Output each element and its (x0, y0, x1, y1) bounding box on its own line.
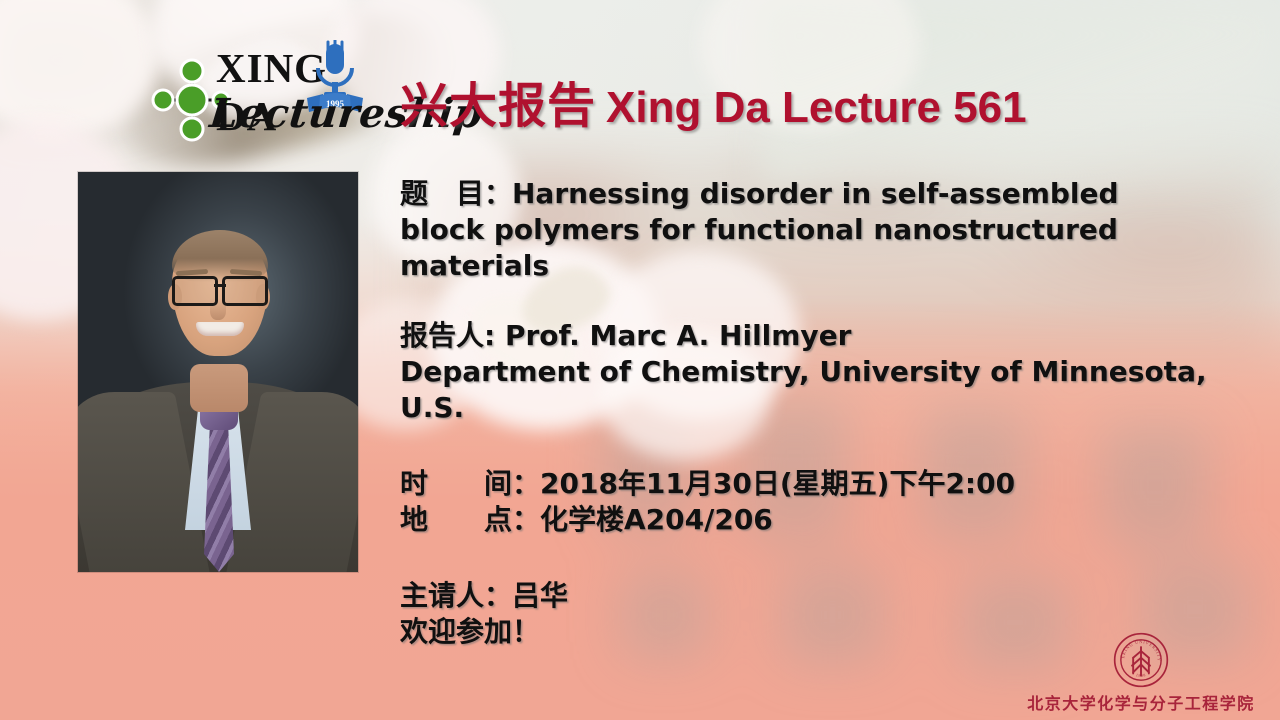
speaker-photo (78, 172, 358, 572)
peking-university-seal-icon: PEKING UNIVERSITY 1898 (1113, 632, 1169, 688)
speaker-line-1: 报告人: Prof. Marc A. Hillmyer (400, 318, 1250, 354)
spacer (400, 426, 1250, 466)
photo-neck (190, 364, 248, 412)
speaker-line-2: Department of Chemistry, University of M… (400, 354, 1250, 390)
photo-lens-right (222, 276, 268, 306)
logistics-block: 时 间：2018年11月30日(星期五)下午2:00 地 点：化学楼A204/2… (400, 466, 1250, 538)
time-line: 时 间：2018年11月30日(星期五)下午2:00 (400, 466, 1250, 502)
poster-title-chinese: 兴大报告 (400, 78, 596, 134)
lecture-poster: XINGDA 1995 Lectureship (0, 0, 1280, 720)
institution-name: 北京大学化学与分子工程学院 (1016, 690, 1266, 714)
poster-title-english: Xing Da Lecture 561 (606, 83, 1027, 132)
xingda-lectureship-logo: XINGDA 1995 Lectureship (150, 48, 396, 146)
institution-footer: PEKING UNIVERSITY 1898 北京大学化学与分子工程学院 (1016, 632, 1266, 714)
topic-line-1: 题 目：Harnessing disorder in self-assemble… (400, 176, 1250, 212)
host-line: 主请人：吕华 (400, 578, 1250, 614)
place-line: 地 点：化学楼A204/206 (400, 502, 1250, 538)
spacer (400, 538, 1250, 578)
speaker-block: 报告人: Prof. Marc A. Hillmyer Department o… (400, 318, 1250, 426)
details-column: 题 目：Harnessing disorder in self-assemble… (400, 176, 1250, 650)
topic-line-3: materials (400, 248, 1250, 284)
eyeglasses-icon (170, 276, 270, 302)
spacer (400, 284, 1250, 318)
topic-line-2: block polymers for functional nanostruct… (400, 212, 1250, 248)
photo-glasses-bridge (214, 284, 226, 287)
topic-block: 题 目：Harnessing disorder in self-assemble… (400, 176, 1250, 284)
poster-title: 兴大报告Xing Da Lecture 561 (400, 66, 1027, 136)
photo-smile (196, 322, 244, 336)
photo-lens-left (172, 276, 218, 306)
speaker-line-3: U.S. (400, 390, 1250, 426)
